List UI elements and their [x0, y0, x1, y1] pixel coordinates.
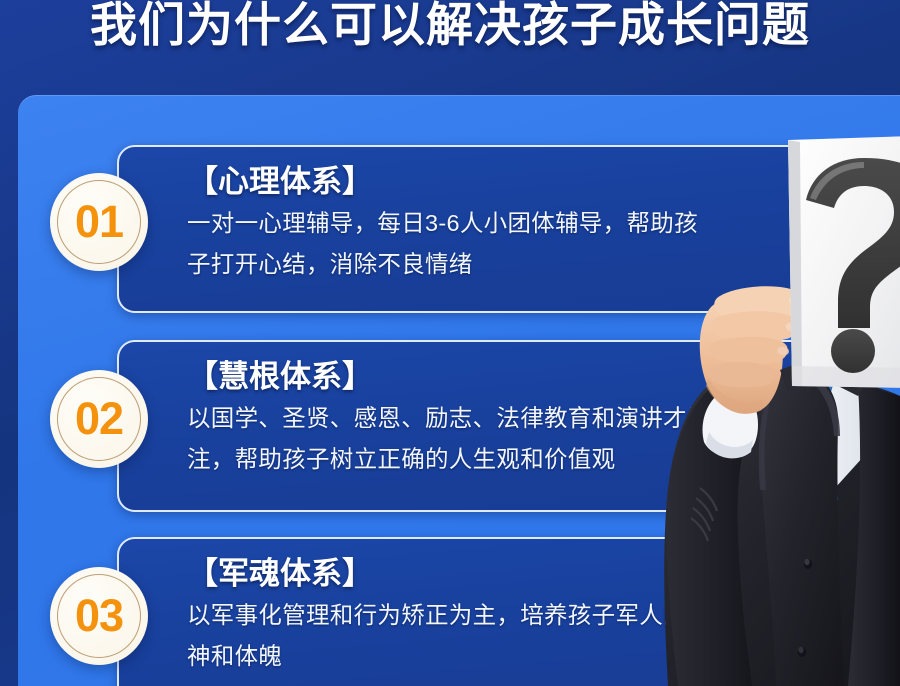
card-number-badge: 02: [50, 370, 148, 468]
card-content: 【军魂体系】 以军事化管理和行为矫正为主，培养孩子军人的精神和体魄: [187, 553, 857, 677]
card-number-label: 02: [75, 393, 123, 445]
card-number-label: 03: [75, 590, 123, 642]
card-body: 以军事化管理和行为矫正为主，培养孩子军人的精神和体魄: [187, 595, 717, 677]
card-body: 以国学、圣贤、感恩、励志、法律教育和演讲才为注，帮助孩子树立正确的人生观和价值观: [187, 398, 717, 480]
card-heading: 【军魂体系】: [187, 553, 857, 595]
card-content: 【慧根体系】 以国学、圣贤、感恩、励志、法律教育和演讲才为注，帮助孩子树立正确的…: [187, 356, 857, 480]
poster-root: 我们为什么可以解决孩子成长问题 【心理体系】 一对一心理辅导，每日3-6人小团体…: [0, 0, 900, 686]
card-heading: 【慧根体系】: [187, 356, 857, 398]
feature-card[interactable]: 【军魂体系】 以军事化管理和行为矫正为主，培养孩子军人的精神和体魄: [117, 537, 877, 686]
card-heading: 【心理体系】: [187, 161, 857, 203]
card-number-label: 01: [75, 196, 123, 248]
feature-card[interactable]: 【心理体系】 一对一心理辅导，每日3-6人小团体辅导，帮助孩子打开心结，消除不良…: [117, 145, 877, 313]
card-number-badge: 01: [50, 173, 148, 271]
page-title: 我们为什么可以解决孩子成长问题: [0, 0, 900, 56]
card-content: 【心理体系】 一对一心理辅导，每日3-6人小团体辅导，帮助孩子打开心结，消除不良…: [187, 161, 857, 285]
card-number-badge: 03: [50, 567, 148, 665]
card-body: 一对一心理辅导，每日3-6人小团体辅导，帮助孩子打开心结，消除不良情绪: [187, 203, 717, 285]
feature-card[interactable]: 【慧根体系】 以国学、圣贤、感恩、励志、法律教育和演讲才为注，帮助孩子树立正确的…: [117, 340, 877, 512]
